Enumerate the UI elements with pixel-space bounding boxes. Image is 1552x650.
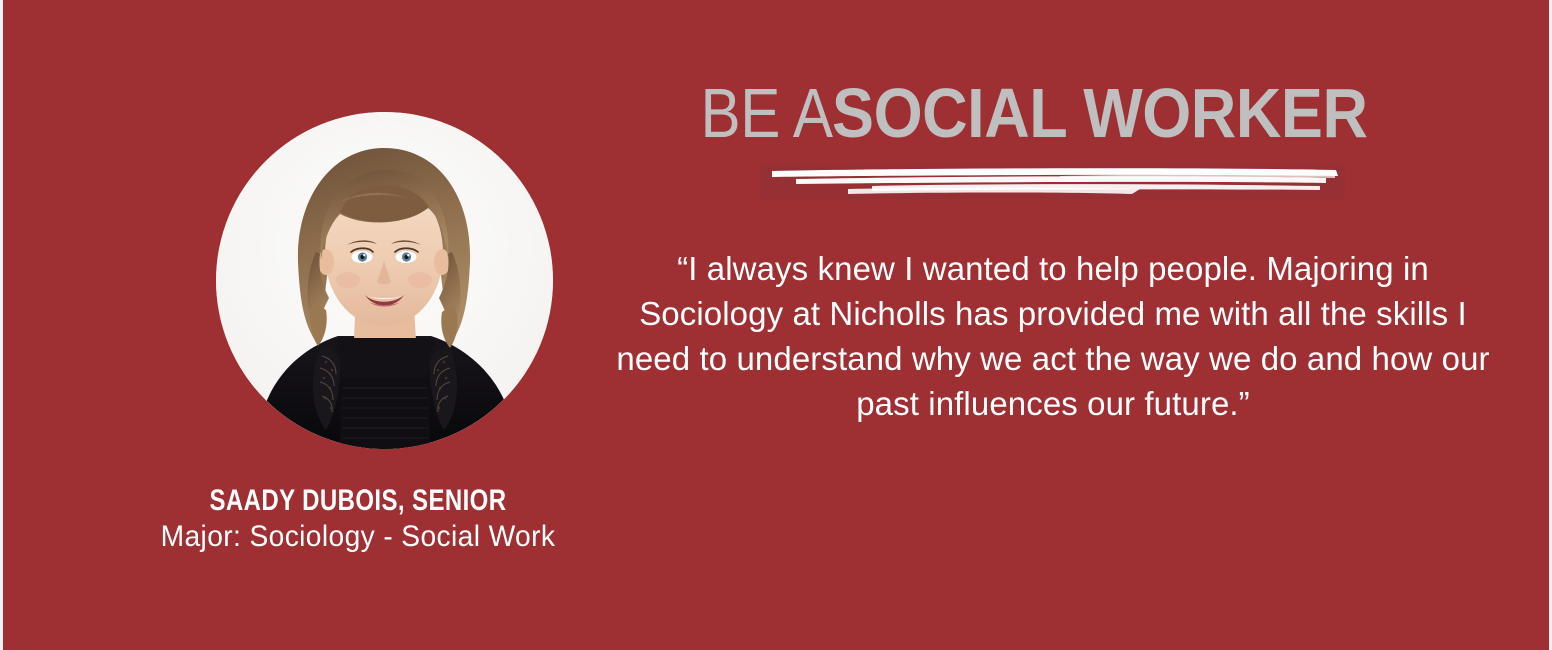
student-portrait-frame [216, 112, 553, 449]
brush-stroke-underline-icon [760, 163, 1345, 199]
student-portrait-photo [216, 112, 553, 449]
student-quote: “I always knew I wanted to help people. … [608, 246, 1498, 426]
page-title: BE A SOCIAL WORKER [603, 76, 1503, 150]
message-panel: BE A SOCIAL WORKER “I always knew I want… [603, 0, 1503, 650]
brush-stroke-strokes [760, 163, 1345, 199]
student-testimonial-banner: SAADY DUBOIS, SENIOR Major: Sociology - … [0, 0, 1552, 650]
student-name: SAADY DUBOIS, SENIOR [118, 484, 598, 518]
headline-lead: BE A [700, 76, 832, 150]
student-major: Major: Sociology - Social Work [76, 520, 640, 554]
headline-emphasis: SOCIAL WORKER [832, 76, 1368, 150]
